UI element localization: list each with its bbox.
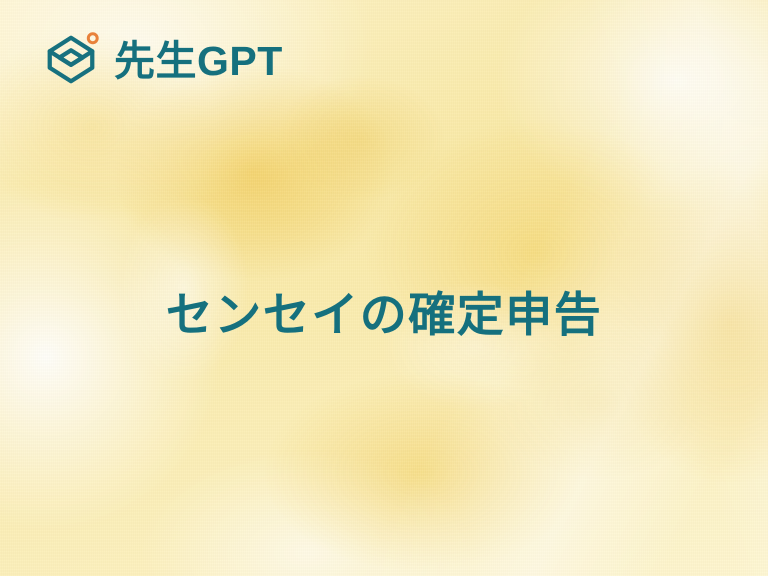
brand-lockup: 先生GPT [42,31,283,89]
title-slide: 先生GPT センセイの確定申告 [0,0,768,576]
page-title: センセイの確定申告 [166,289,603,341]
orange-dot-icon [88,34,97,43]
brand-wordmark: 先生GPT [114,41,283,82]
graduation-cap-hexagon-icon [42,31,100,89]
title-block: センセイの確定申告 [0,258,768,373]
